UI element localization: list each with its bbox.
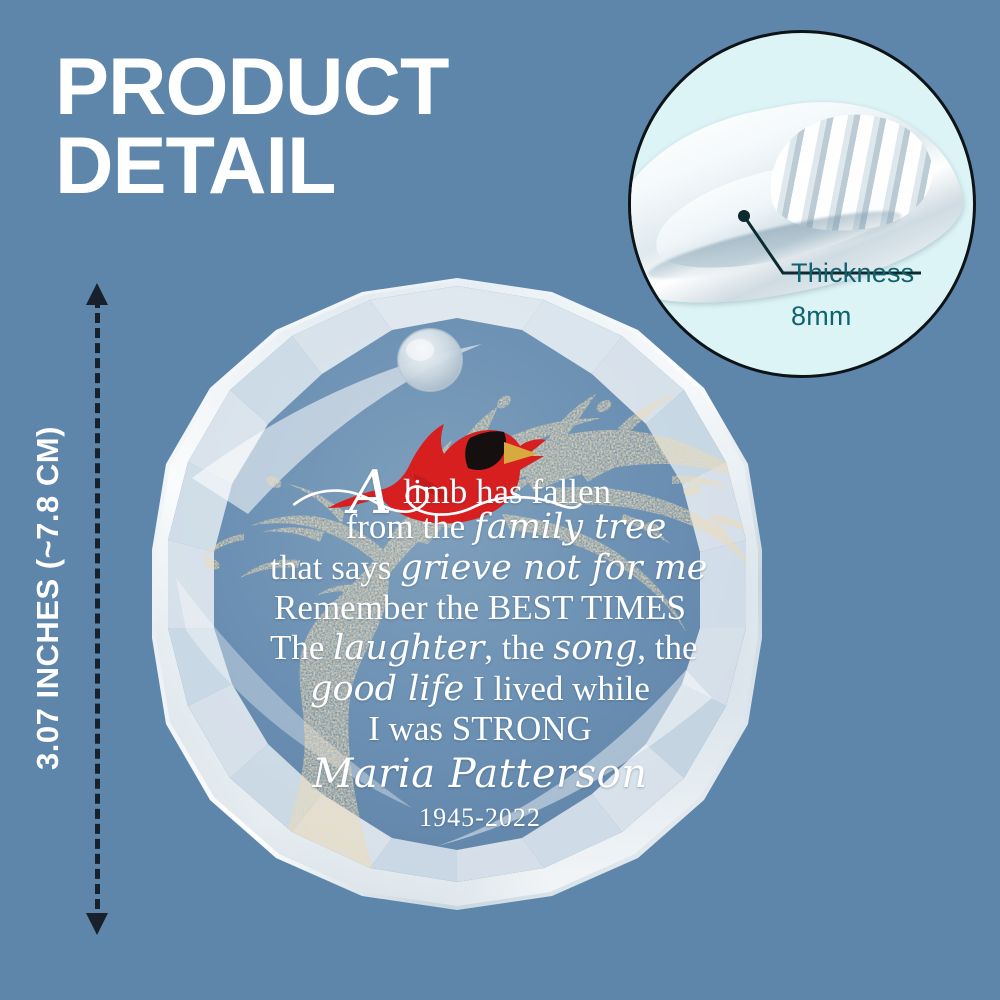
dimension-dashed-line — [95, 298, 100, 924]
dimension-label: 3.07 INCHES (~7.8 CM) — [30, 368, 66, 828]
thickness-label: Thickness — [791, 258, 914, 289]
crystal-graphic — [152, 278, 762, 930]
crystal-ornament: A limb has fallen from the family tree t… — [152, 278, 762, 930]
product-detail-canvas: PRODUCT DETAIL 3.07 INCHES (~7.8 CM) Thi… — [0, 0, 1000, 1000]
thickness-value: 8mm — [791, 301, 852, 332]
dimension-annotation: 3.07 INCHES (~7.8 CM) — [0, 0, 160, 1000]
hanging-hole — [398, 329, 462, 391]
dimension-arrow-down-icon — [86, 913, 108, 935]
